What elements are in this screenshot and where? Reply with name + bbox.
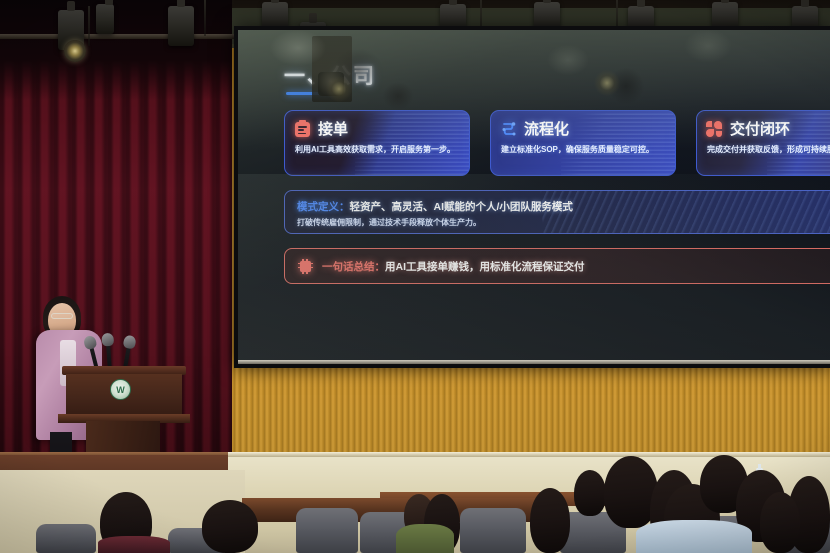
definition-key: 模式定义： bbox=[297, 201, 350, 213]
audience-head bbox=[530, 488, 570, 553]
title-underline-accent bbox=[286, 92, 334, 95]
card-stripe-pattern bbox=[355, 111, 469, 175]
stage-light-icon bbox=[96, 4, 114, 34]
audience-chair bbox=[36, 524, 96, 553]
card-description: 利用AI工具高效获取需求，开启服务第一步。 bbox=[295, 144, 460, 156]
audience-shoulders bbox=[396, 524, 454, 553]
speaker-glasses bbox=[51, 313, 73, 319]
curtain-shadow bbox=[0, 0, 232, 100]
card-description: 建立标准化SOP，确保服务质量稳定可控。 bbox=[501, 144, 666, 156]
band-streak-pattern bbox=[539, 190, 830, 234]
summary-band: 一句话总结：用AI工具接单赚钱，用标准化流程保证交付 bbox=[284, 248, 830, 284]
projection-screen: 一、公司 接单 利用AI工具高效获取需求，开启服务第一步。 bbox=[234, 26, 830, 368]
audience-chair bbox=[296, 508, 358, 553]
card-stripe-pattern bbox=[561, 111, 675, 175]
lighting-cable bbox=[204, 0, 206, 36]
lighting-cable bbox=[88, 6, 90, 46]
clipboard-list-icon bbox=[294, 120, 311, 137]
definition-value: 轻资产、高灵活、AI赋能的个人/小团队服务模式 bbox=[350, 201, 573, 213]
mode-definition-band: 模式定义：轻资产、高灵活、AI赋能的个人/小团队服务模式 打破传统雇佣限制，通过… bbox=[284, 190, 830, 234]
card-title: 交付闭环 bbox=[730, 118, 790, 139]
audience-head bbox=[760, 492, 800, 553]
podium-emblem: W bbox=[110, 379, 131, 400]
audience-head bbox=[202, 500, 258, 553]
feature-card-take-orders: 接单 利用AI工具高效获取需求，开启服务第一步。 bbox=[284, 110, 470, 176]
summary-value: 用AI工具接单赚钱，用标准化流程保证交付 bbox=[385, 261, 585, 273]
summary-key: 一句话总结： bbox=[322, 261, 385, 273]
card-title: 流程化 bbox=[524, 118, 569, 139]
quote-loop-icon bbox=[706, 120, 723, 137]
audience-shoulders bbox=[98, 536, 170, 553]
card-title: 接单 bbox=[318, 118, 348, 139]
wall-panel-seam bbox=[228, 452, 830, 457]
card-header: 接单 bbox=[294, 118, 348, 139]
cpu-chip-icon bbox=[298, 259, 313, 274]
card-header: 交付闭环 bbox=[706, 118, 790, 139]
feature-cards-row: 接单 利用AI工具高效获取需求，开启服务第一步。 bbox=[284, 110, 830, 176]
audience-shoulders bbox=[636, 520, 752, 553]
audience-head bbox=[574, 470, 606, 516]
stage-light-icon bbox=[168, 6, 194, 46]
definition-subtext: 打破传统雇佣限制，通过技术手段释放个体生产力。 bbox=[297, 217, 481, 228]
slide-title: 一、公司 bbox=[284, 60, 376, 90]
feature-card-delivery-loop: 交付闭环 完成交付并获取反馈，形成可持续服务循环。 bbox=[696, 110, 830, 176]
workflow-route-icon bbox=[500, 120, 517, 137]
card-description: 完成交付并获取反馈，形成可持续服务循环。 bbox=[707, 144, 830, 156]
presentation-slide: 一、公司 接单 利用AI工具高效获取需求，开启服务第一步。 bbox=[238, 30, 830, 364]
summary-line: 一句话总结：用AI工具接单赚钱，用标准化流程保证交付 bbox=[322, 259, 585, 274]
audience-chair bbox=[460, 508, 526, 553]
feature-card-process: 流程化 建立标准化SOP，确保服务质量稳定可控。 bbox=[490, 110, 676, 176]
photo-scene: 一、公司 接单 利用AI工具高效获取需求，开启服务第一步。 bbox=[0, 0, 830, 553]
stage-light-lens-icon bbox=[64, 40, 86, 62]
definition-line: 模式定义：轻资产、高灵活、AI赋能的个人/小团队服务模式 bbox=[297, 199, 573, 214]
card-header: 流程化 bbox=[500, 118, 569, 139]
